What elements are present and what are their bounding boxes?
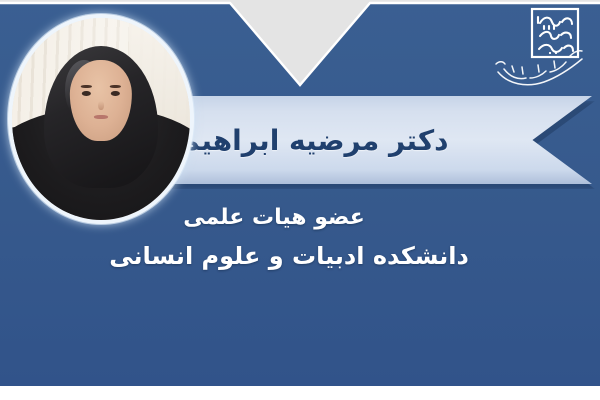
photo-eye-left [82, 91, 91, 96]
photo-eye-right [111, 91, 120, 96]
caption-role: عضو هیات علمی [0, 200, 600, 236]
photo-nose [98, 101, 104, 111]
caption-block: عضو هیات علمی دانشکده ادبیات و علوم انسا… [0, 200, 600, 276]
photo-mouth [94, 115, 108, 119]
faculty-announcement-card: دکتر مرضیه ابراهیمی [0, 0, 600, 400]
university-logo [492, 6, 588, 90]
photo-eyebrow-right [110, 85, 121, 88]
portrait-photo [12, 18, 190, 220]
portrait [12, 18, 190, 220]
photo-eyebrow-left [81, 85, 92, 88]
portrait-frame [12, 18, 190, 220]
photo-face [70, 60, 132, 141]
caption-faculty: دانشکده ادبیات و علوم انسانی [0, 236, 600, 276]
